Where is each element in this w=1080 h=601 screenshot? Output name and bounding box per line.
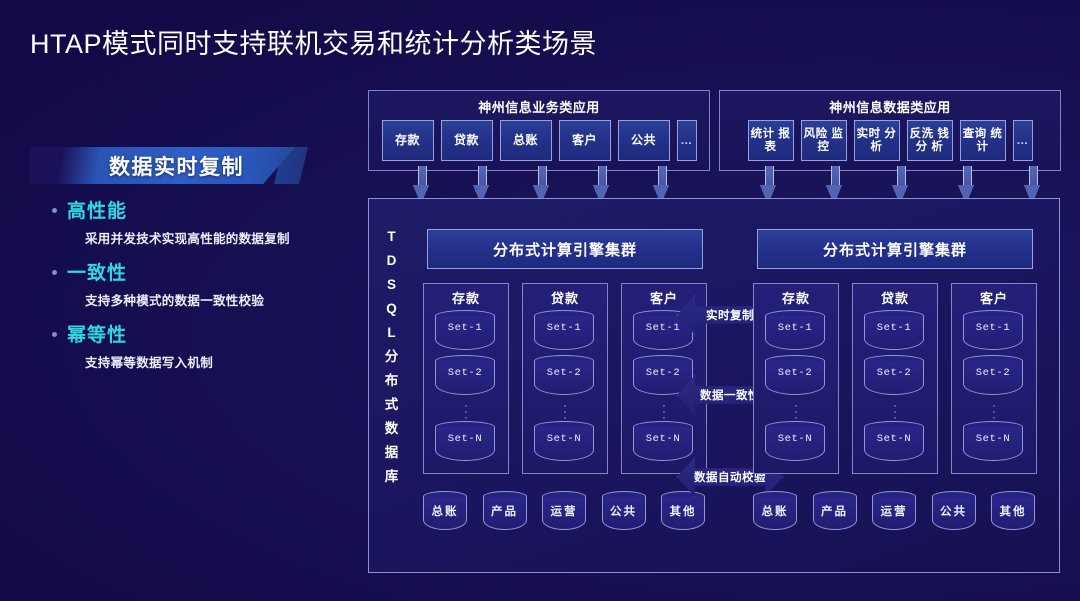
feature-description: 采用并发技术实现高性能的数据复制 xyxy=(85,228,352,247)
bottom-node-label: 其他 xyxy=(991,503,1035,519)
ellipsis-icon: ··· xyxy=(853,400,937,421)
vlabel-char: L xyxy=(381,321,403,345)
list-item: 一致性 支持多种模式的数据一致性校验 xyxy=(52,258,352,309)
set-node[interactable]: Set-N xyxy=(765,421,827,462)
set-column-header: 存款 xyxy=(754,288,838,307)
app-chip[interactable]: 客户 xyxy=(559,120,611,161)
set-node[interactable]: Set-N xyxy=(633,421,695,462)
set-node[interactable]: Set-2 xyxy=(864,355,926,396)
set-column-header: 贷款 xyxy=(523,288,607,307)
set-column: 存款 Set-1 Set-2 ··· Set-N xyxy=(423,283,509,474)
app-chip[interactable]: 风险 监控 xyxy=(801,120,847,161)
bottom-node[interactable]: 运营 xyxy=(542,491,588,531)
feature-heading: 一致性 xyxy=(52,258,352,285)
ellipsis-icon: ··· xyxy=(754,400,838,421)
set-node[interactable]: Set-2 xyxy=(534,355,596,396)
set-label: Set-N xyxy=(633,433,693,445)
bottom-node-label: 产品 xyxy=(483,503,527,519)
vlabel-char: D xyxy=(381,249,403,273)
set-column: 贷款 Set-1 Set-2 ··· Set-N xyxy=(852,283,938,474)
set-column-group: 存款 Set-1 Set-2 ··· Set-N 贷款 Set-1 Set-2 … xyxy=(753,283,1037,474)
bottom-node[interactable]: 公共 xyxy=(602,491,648,531)
bottom-node-label: 总账 xyxy=(753,503,797,519)
bottom-node[interactable]: 产品 xyxy=(813,491,859,531)
set-node[interactable]: Set-N xyxy=(534,421,596,462)
feature-title: 高性能 xyxy=(67,196,127,223)
set-label: Set-1 xyxy=(534,322,594,334)
bottom-node[interactable]: 其他 xyxy=(991,491,1037,531)
app-chip-more[interactable]: … xyxy=(677,120,697,161)
ellipsis-icon: ··· xyxy=(424,400,508,421)
set-label: Set-N xyxy=(864,433,924,445)
compute-engine-banner: 分布式计算引擎集群 xyxy=(757,229,1033,269)
bottom-node[interactable]: 运营 xyxy=(872,491,918,531)
set-column-header: 存款 xyxy=(424,288,508,307)
ellipsis-icon: ··· xyxy=(952,400,1036,421)
set-column: 贷款 Set-1 Set-2 ··· Set-N xyxy=(522,283,608,474)
set-label: Set-1 xyxy=(435,322,495,334)
app-group-heading: 神州信息数据类应用 xyxy=(720,91,1060,120)
set-label: Set-N xyxy=(765,433,825,445)
vlabel-char: 数 xyxy=(381,417,403,441)
feature-description: 支持幂等数据写入机制 xyxy=(85,352,352,371)
set-label: Set-2 xyxy=(963,367,1023,379)
set-node[interactable]: Set-1 xyxy=(435,310,497,351)
app-group-business: 神州信息业务类应用 存款 贷款 总账 客户 公共 … xyxy=(368,90,710,171)
app-chip[interactable]: 存款 xyxy=(382,120,434,161)
ellipsis-icon: ··· xyxy=(523,400,607,421)
set-node[interactable]: Set-1 xyxy=(534,310,596,351)
app-chip[interactable]: 公共 xyxy=(618,120,670,161)
vlabel-char: 式 xyxy=(381,393,403,417)
app-chip[interactable]: 实时 分析 xyxy=(854,120,900,161)
bottom-node[interactable]: 公共 xyxy=(932,491,978,531)
bullet-dot-icon xyxy=(52,332,57,337)
bottom-node-label: 公共 xyxy=(602,503,646,519)
ribbon-label: 数据实时复制 xyxy=(30,147,295,184)
bottom-node-label: 公共 xyxy=(932,503,976,519)
set-label: Set-1 xyxy=(963,322,1023,334)
app-chip-more[interactable]: … xyxy=(1013,120,1033,161)
set-label: Set-1 xyxy=(633,322,693,334)
app-chip[interactable]: 反洗 钱分 析 xyxy=(907,120,953,161)
vlabel-char: 分 xyxy=(381,345,403,369)
bullet-dot-icon xyxy=(52,270,57,275)
app-chip-row: 存款 贷款 总账 客户 公共 … xyxy=(369,120,709,170)
page-title: HTAP模式同时支持联机交易和统计分析类场景 xyxy=(30,22,597,61)
vlabel-char: 库 xyxy=(381,465,403,489)
set-label: Set-2 xyxy=(864,367,924,379)
set-node[interactable]: Set-N xyxy=(963,421,1025,462)
list-item: 幂等性 支持幂等数据写入机制 xyxy=(52,320,352,371)
bottom-node[interactable]: 产品 xyxy=(483,491,529,531)
vlabel-char: 布 xyxy=(381,369,403,393)
app-group-data: 神州信息数据类应用 统计 报表 风险 监控 实时 分析 反洗 钱分 析 查询 统… xyxy=(719,90,1061,171)
set-label: Set-1 xyxy=(864,322,924,334)
set-node[interactable]: Set-2 xyxy=(435,355,497,396)
set-label: Set-2 xyxy=(534,367,594,379)
set-node[interactable]: Set-N xyxy=(864,421,926,462)
app-chip[interactable]: 总账 xyxy=(500,120,552,161)
app-group-heading: 神州信息业务类应用 xyxy=(369,91,709,120)
set-column-header: 客户 xyxy=(952,288,1036,307)
tdsql-panel: T D S Q L 分 布 式 数 据 库 分布式计算引擎集群 存款 Set-1… xyxy=(368,198,1060,573)
bottom-node-label: 运营 xyxy=(872,503,916,519)
bottom-node-row: 总账 产品 运营 公共 其他 xyxy=(423,491,707,531)
compute-engine-banner: 分布式计算引擎集群 xyxy=(427,229,703,269)
set-column-header: 贷款 xyxy=(853,288,937,307)
set-label: Set-2 xyxy=(633,367,693,379)
set-column: 客户 Set-1 Set-2 ··· Set-N xyxy=(951,283,1037,474)
bottom-node-row: 总账 产品 运营 公共 其他 xyxy=(753,491,1037,531)
slide-canvas: HTAP模式同时支持联机交易和统计分析类场景 数据实时复制 高性能 采用并发技术… xyxy=(0,0,1080,601)
feature-list: 高性能 采用并发技术实现高性能的数据复制 一致性 支持多种模式的数据一致性校验 … xyxy=(52,196,352,382)
set-node[interactable]: Set-2 xyxy=(963,355,1025,396)
bottom-node-label: 运营 xyxy=(542,503,586,519)
set-label: Set-N xyxy=(534,433,594,445)
set-label: Set-2 xyxy=(435,367,495,379)
app-chip[interactable]: 贷款 xyxy=(441,120,493,161)
set-node[interactable]: Set-1 xyxy=(765,310,827,351)
set-label: Set-N xyxy=(963,433,1023,445)
app-chip[interactable]: 查询 统计 xyxy=(960,120,1006,161)
cluster-primary: 分布式计算引擎集群 存款 Set-1 Set-2 ··· Set-N 贷款 Se… xyxy=(417,199,713,572)
tdsql-vertical-label: T D S Q L 分 布 式 数 据 库 xyxy=(381,225,403,489)
bottom-node[interactable]: 总账 xyxy=(753,491,799,531)
set-node[interactable]: Set-2 xyxy=(765,355,827,396)
set-node[interactable]: Set-N xyxy=(435,421,497,462)
set-node[interactable]: Set-1 xyxy=(963,310,1025,351)
set-label: Set-1 xyxy=(765,322,825,334)
set-node[interactable]: Set-1 xyxy=(864,310,926,351)
sync-arrow-group: 实时复制 数据一致性 数据自动校验 xyxy=(713,199,747,572)
bottom-node-label: 其他 xyxy=(661,503,705,519)
section-ribbon: 数据实时复制 xyxy=(30,147,295,184)
bullet-dot-icon xyxy=(52,208,57,213)
set-label: Set-2 xyxy=(765,367,825,379)
vlabel-char: T xyxy=(381,225,403,249)
app-chip-row: 统计 报表 风险 监控 实时 分析 反洗 钱分 析 查询 统计 … xyxy=(720,120,1060,170)
vlabel-char: 据 xyxy=(381,441,403,465)
app-chip[interactable]: 统计 报表 xyxy=(748,120,794,161)
set-column-group: 存款 Set-1 Set-2 ··· Set-N 贷款 Set-1 Set-2 … xyxy=(423,283,707,474)
feature-title: 一致性 xyxy=(67,258,127,285)
set-column: 存款 Set-1 Set-2 ··· Set-N xyxy=(753,283,839,474)
feature-title: 幂等性 xyxy=(67,320,127,347)
cluster-secondary: 分布式计算引擎集群 存款 Set-1 Set-2 ··· Set-N 贷款 Se… xyxy=(747,199,1043,572)
bottom-node[interactable]: 其他 xyxy=(661,491,707,531)
bottom-node-label: 产品 xyxy=(813,503,857,519)
feature-description: 支持多种模式的数据一致性校验 xyxy=(85,290,352,309)
vlabel-char: S xyxy=(381,273,403,297)
feature-heading: 高性能 xyxy=(52,196,352,223)
set-label: Set-N xyxy=(435,433,495,445)
bottom-node-label: 总账 xyxy=(423,503,467,519)
vlabel-char: Q xyxy=(381,297,403,321)
feature-heading: 幂等性 xyxy=(52,320,352,347)
bottom-node[interactable]: 总账 xyxy=(423,491,469,531)
list-item: 高性能 采用并发技术实现高性能的数据复制 xyxy=(52,196,352,247)
